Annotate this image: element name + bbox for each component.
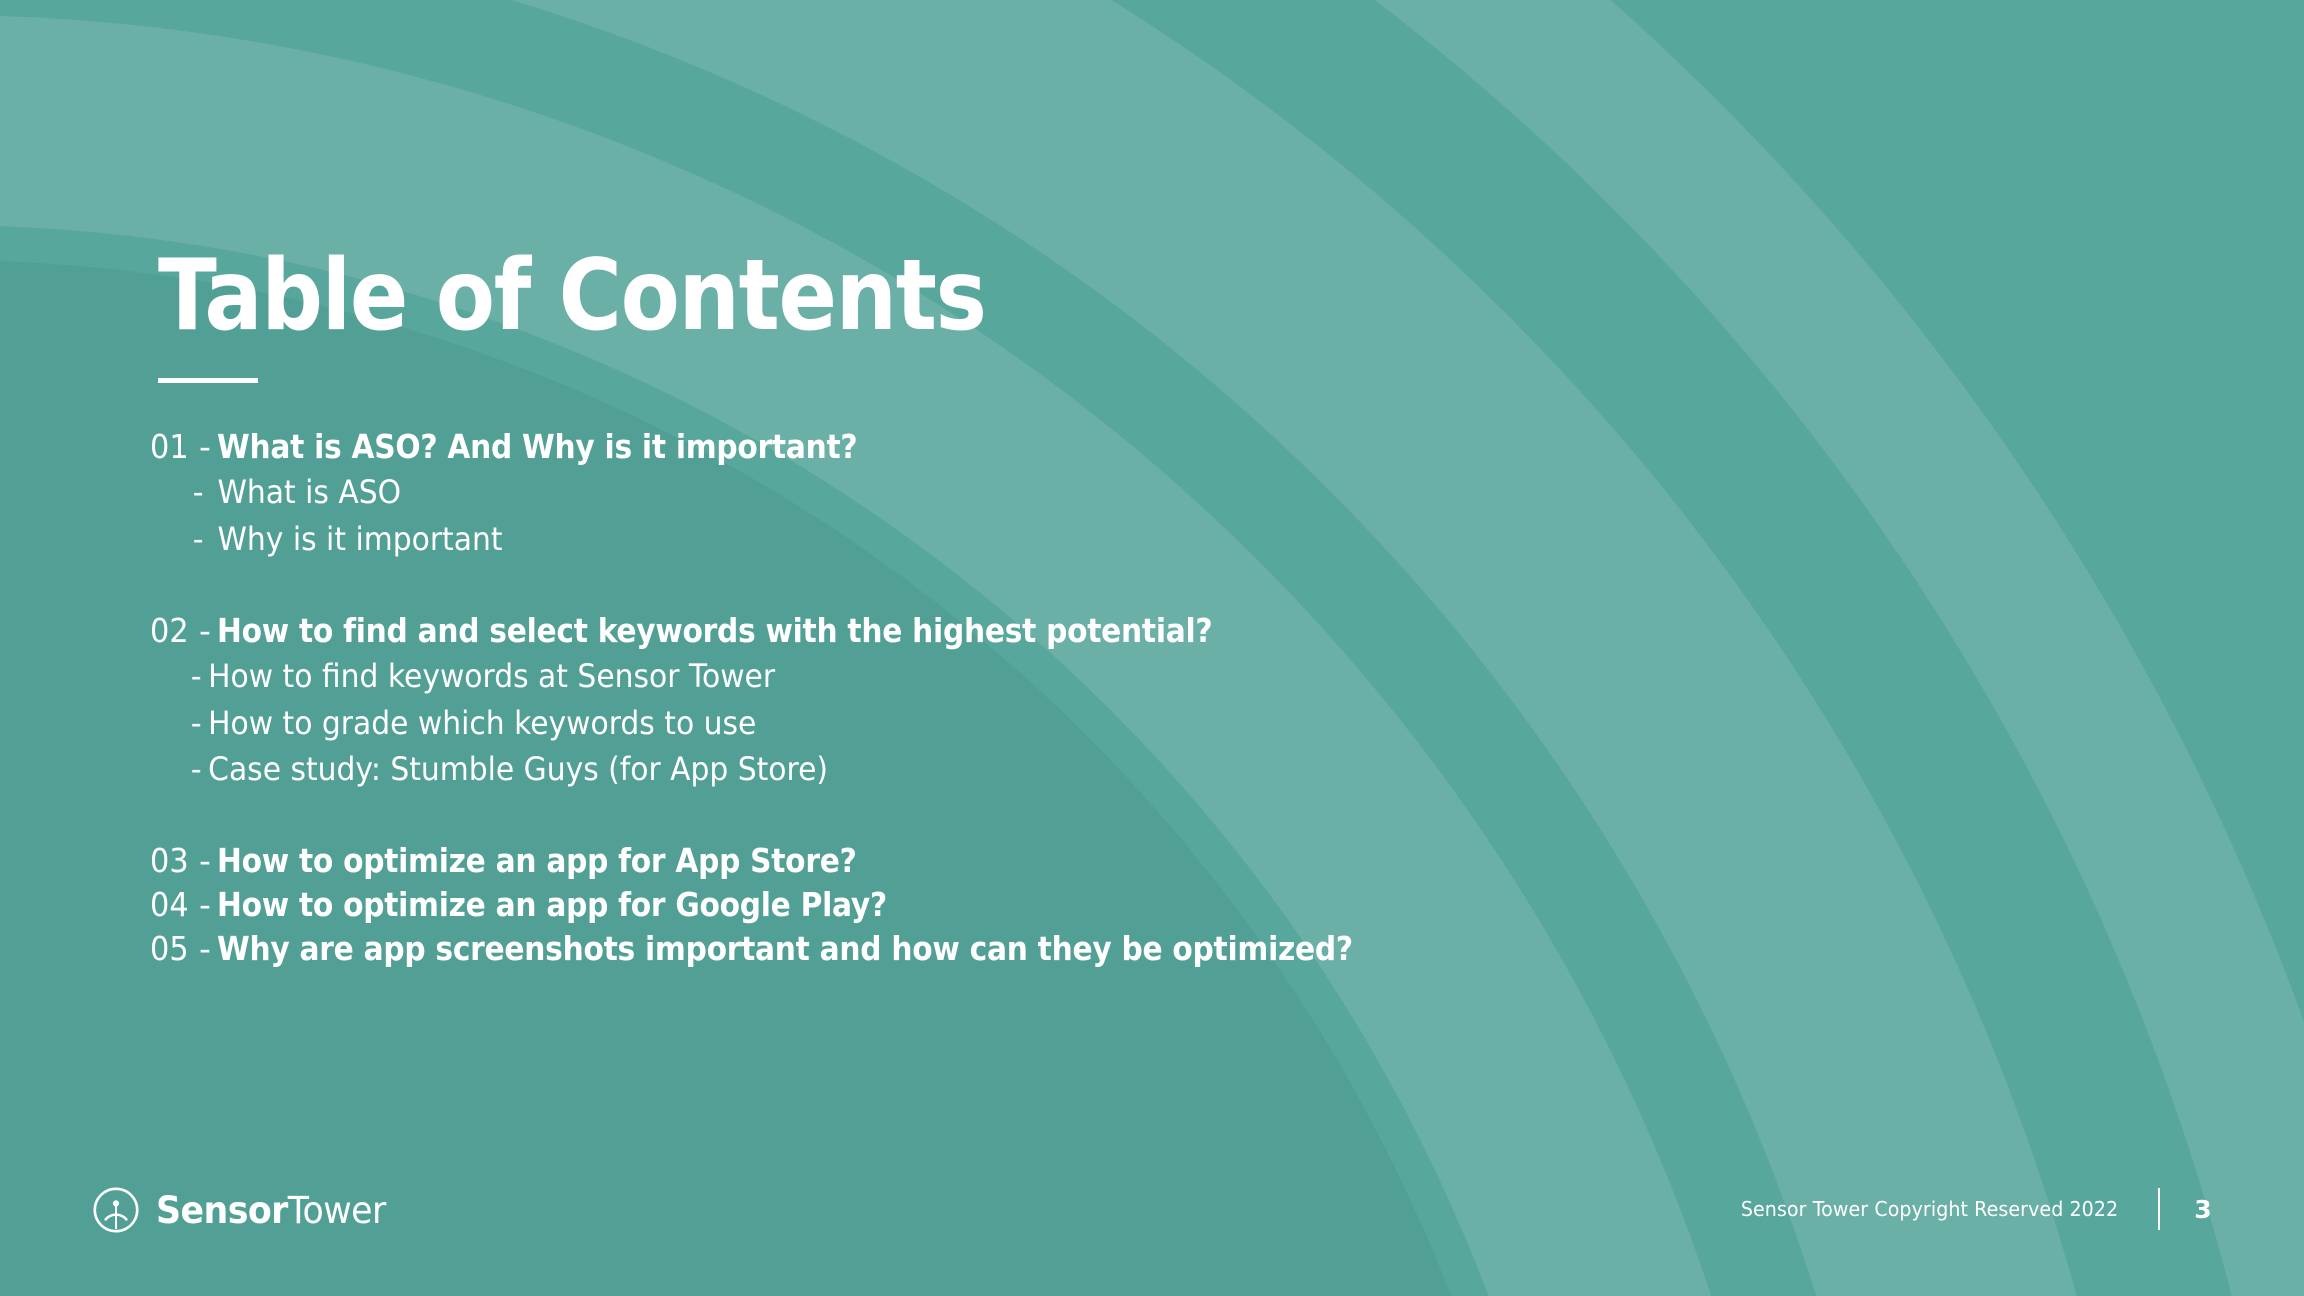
brand-name-bold: Sensor: [156, 1189, 288, 1232]
toc-section-03: 03 - How to optimize an app for App Stor…: [150, 839, 2050, 883]
toc-subitem-02-3[interactable]: - Case study: Stumble Guys (for App Stor…: [150, 746, 1917, 793]
toc-subitem-02-1[interactable]: - How to find keywords at Sensor Tower: [150, 653, 1917, 700]
toc-number-04: 04: [150, 883, 189, 927]
copyright-text: Sensor Tower Copyright Reserved 2022: [1741, 1197, 2118, 1221]
toc-separator-04: -: [192, 883, 217, 927]
footer-divider: [2158, 1188, 2160, 1230]
toc-number-02: 02: [150, 609, 189, 653]
toc-separator-02: -: [192, 609, 217, 653]
toc-separator-01: -: [192, 425, 217, 469]
toc-title-02: How to find and select keywords with the…: [217, 609, 1212, 653]
toc-section-05: 05 - Why are app screenshots important a…: [150, 927, 2050, 971]
brand-logo: SensorTower: [92, 1186, 400, 1234]
toc-heading-05[interactable]: 05 - Why are app screenshots important a…: [150, 927, 2050, 971]
table-of-contents: 01 - What is ASO? And Why is it importan…: [150, 425, 2050, 972]
toc-subitem-dash: -: [193, 469, 218, 516]
toc-subitem-01-1[interactable]: - What is ASO: [150, 469, 1917, 516]
toc-subitem-01-2[interactable]: - Why is it important: [150, 516, 1917, 563]
toc-subitem-dash: -: [191, 700, 208, 747]
toc-section-02: 02 - How to find and select keywords wit…: [150, 609, 2050, 793]
title-block: Table of Contents: [158, 246, 1099, 383]
page-title: Table of Contents: [158, 246, 986, 348]
toc-heading-01[interactable]: 01 - What is ASO? And Why is it importan…: [150, 425, 2050, 469]
toc-subitem-label: How to find keywords at Sensor Tower: [208, 653, 775, 700]
toc-title-01: What is ASO? And Why is it important?: [217, 425, 857, 469]
toc-separator-05: -: [192, 927, 217, 971]
toc-title-04: How to optimize an app for Google Play?: [217, 883, 887, 927]
toc-heading-04[interactable]: 04 - How to optimize an app for Google P…: [150, 883, 2050, 927]
title-underline-rule: [158, 378, 258, 383]
sensor-tower-antenna-icon: [92, 1186, 140, 1234]
toc-heading-03[interactable]: 03 - How to optimize an app for App Stor…: [150, 839, 2050, 883]
toc-number-01: 01: [150, 425, 189, 469]
brand-wordmark: SensorTower: [156, 1189, 386, 1232]
toc-title-05: Why are app screenshots important and ho…: [217, 927, 1353, 971]
toc-number-05: 05: [150, 927, 189, 971]
toc-subitem-label: Case study: Stumble Guys (for App Store): [208, 746, 828, 793]
toc-section-01: 01 - What is ASO? And Why is it importan…: [150, 425, 2050, 563]
page-number: 3: [2194, 1195, 2212, 1224]
toc-title-03: How to optimize an app for App Store?: [217, 839, 857, 883]
toc-subitem-label: What is ASO: [217, 469, 401, 516]
slide: Table of Contents 01 - What is ASO? And …: [0, 0, 2304, 1296]
toc-number-03: 03: [150, 839, 189, 883]
toc-subitem-dash: -: [193, 516, 218, 563]
footer-meta: Sensor Tower Copyright Reserved 2022 3: [1721, 1188, 2212, 1230]
toc-subitem-label: How to grade which keywords to use: [208, 700, 756, 747]
toc-heading-02[interactable]: 02 - How to find and select keywords wit…: [150, 609, 2050, 653]
brand-name-light: Tower: [288, 1189, 386, 1232]
toc-subitem-02-2[interactable]: - How to grade which keywords to use: [150, 700, 1917, 747]
toc-separator-03: -: [192, 839, 217, 883]
toc-section-04: 04 - How to optimize an app for Google P…: [150, 883, 2050, 927]
toc-subitem-label: Why is it important: [217, 516, 502, 563]
toc-subitem-dash: -: [191, 746, 208, 793]
toc-subitem-dash: -: [191, 653, 208, 700]
